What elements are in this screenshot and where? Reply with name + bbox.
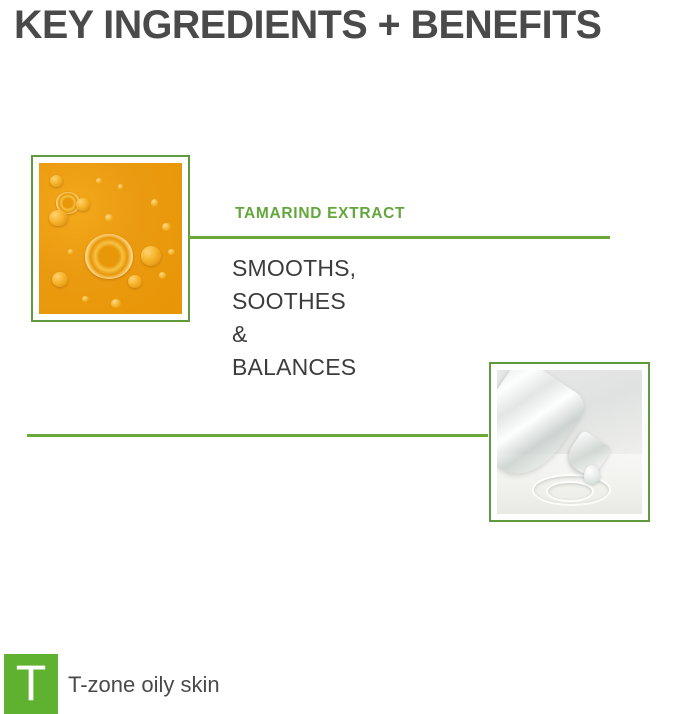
ingredient-name-tamarind: TAMARIND EXTRACT — [235, 205, 405, 223]
bubble-icon — [151, 199, 158, 207]
bubble-icon — [162, 223, 171, 231]
bubble-icon — [96, 178, 102, 184]
bubble-icon — [128, 275, 142, 289]
t-zone-badge: T — [4, 654, 58, 714]
divider-rule-tamarind — [188, 236, 610, 239]
bubble-icon — [105, 214, 114, 222]
bubble-icon — [111, 299, 121, 308]
d-panthenol-photo — [497, 370, 642, 514]
bubble-icon — [82, 296, 89, 302]
d-panthenol-photo-frame — [489, 362, 650, 522]
bubble-icon — [49, 210, 68, 227]
bubble-icon — [168, 249, 175, 255]
ingredient-benefit-tamarind: SMOOTHS, SOOTHES & BALANCES — [232, 252, 356, 384]
ripple-icon — [546, 481, 594, 502]
droplet-icon — [584, 465, 600, 484]
bubble-icon — [52, 272, 68, 287]
divider-rule-panthenol — [27, 434, 488, 437]
tamarind-extract-photo-frame — [31, 155, 190, 322]
tamarind-extract-photo — [39, 163, 182, 314]
bubble-icon — [141, 246, 161, 266]
page-title: KEY INGREDIENTS + BENEFITS — [14, 2, 656, 48]
badge-letter-t: T — [4, 654, 58, 714]
t-zone-label: T-zone oily skin — [68, 672, 220, 698]
